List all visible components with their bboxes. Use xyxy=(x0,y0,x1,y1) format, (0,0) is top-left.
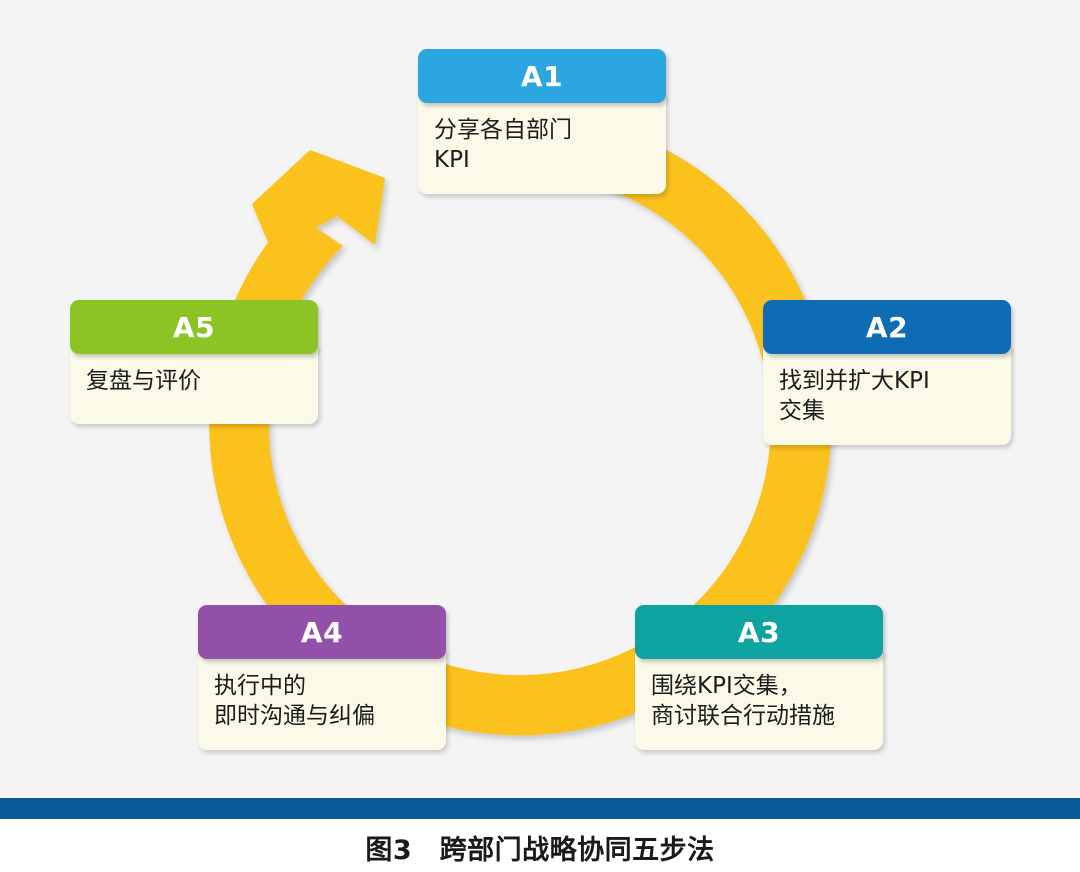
step-header-a3: A3 xyxy=(635,605,883,659)
step-label-a4: A4 xyxy=(301,616,343,649)
step-label-a3: A3 xyxy=(738,616,780,649)
step-text-line: KPI xyxy=(434,145,650,175)
bottom-blue-rule xyxy=(0,798,1080,819)
figure-canvas: A1 分享各自部门 KPI A2 找到并扩大KPI 交集 A3 围绕KPI交集， xyxy=(0,0,1080,798)
step-body-a3: 围绕KPI交集， 商讨联合行动措施 xyxy=(635,651,883,750)
step-text-line: 找到并扩大KPI xyxy=(779,366,995,396)
step-text-line: 执行中的 xyxy=(214,671,430,701)
step-text-line: 即时沟通与纠偏 xyxy=(214,701,430,731)
step-text-line: 复盘与评价 xyxy=(86,366,302,396)
step-text-line: 交集 xyxy=(779,396,995,426)
step-body-a1: 分享各自部门 KPI xyxy=(418,95,666,194)
step-card-a3[interactable]: A3 围绕KPI交集， 商讨联合行动措施 xyxy=(635,605,883,750)
step-header-a1: A1 xyxy=(418,49,666,103)
step-text-line: 分享各自部门 xyxy=(434,115,650,145)
step-label-a2: A2 xyxy=(866,311,908,344)
step-card-a1[interactable]: A1 分享各自部门 KPI xyxy=(418,49,666,194)
step-body-a2: 找到并扩大KPI 交集 xyxy=(763,346,1011,445)
step-card-a5[interactable]: A5 复盘与评价 xyxy=(70,300,318,424)
step-text-line: 商讨联合行动措施 xyxy=(651,701,867,731)
step-header-a5: A5 xyxy=(70,300,318,354)
step-card-a2[interactable]: A2 找到并扩大KPI 交集 xyxy=(763,300,1011,445)
step-body-a4: 执行中的 即时沟通与纠偏 xyxy=(198,651,446,750)
step-label-a1: A1 xyxy=(521,60,563,93)
step-header-a2: A2 xyxy=(763,300,1011,354)
figure-caption: 图3 跨部门战略协同五步法 xyxy=(0,828,1080,867)
step-label-a5: A5 xyxy=(173,311,215,344)
step-card-a4[interactable]: A4 执行中的 即时沟通与纠偏 xyxy=(198,605,446,750)
step-header-a4: A4 xyxy=(198,605,446,659)
step-text-line: 围绕KPI交集， xyxy=(651,671,867,701)
step-body-a5: 复盘与评价 xyxy=(70,346,318,424)
figure-page: A1 分享各自部门 KPI A2 找到并扩大KPI 交集 A3 围绕KPI交集， xyxy=(0,0,1080,872)
